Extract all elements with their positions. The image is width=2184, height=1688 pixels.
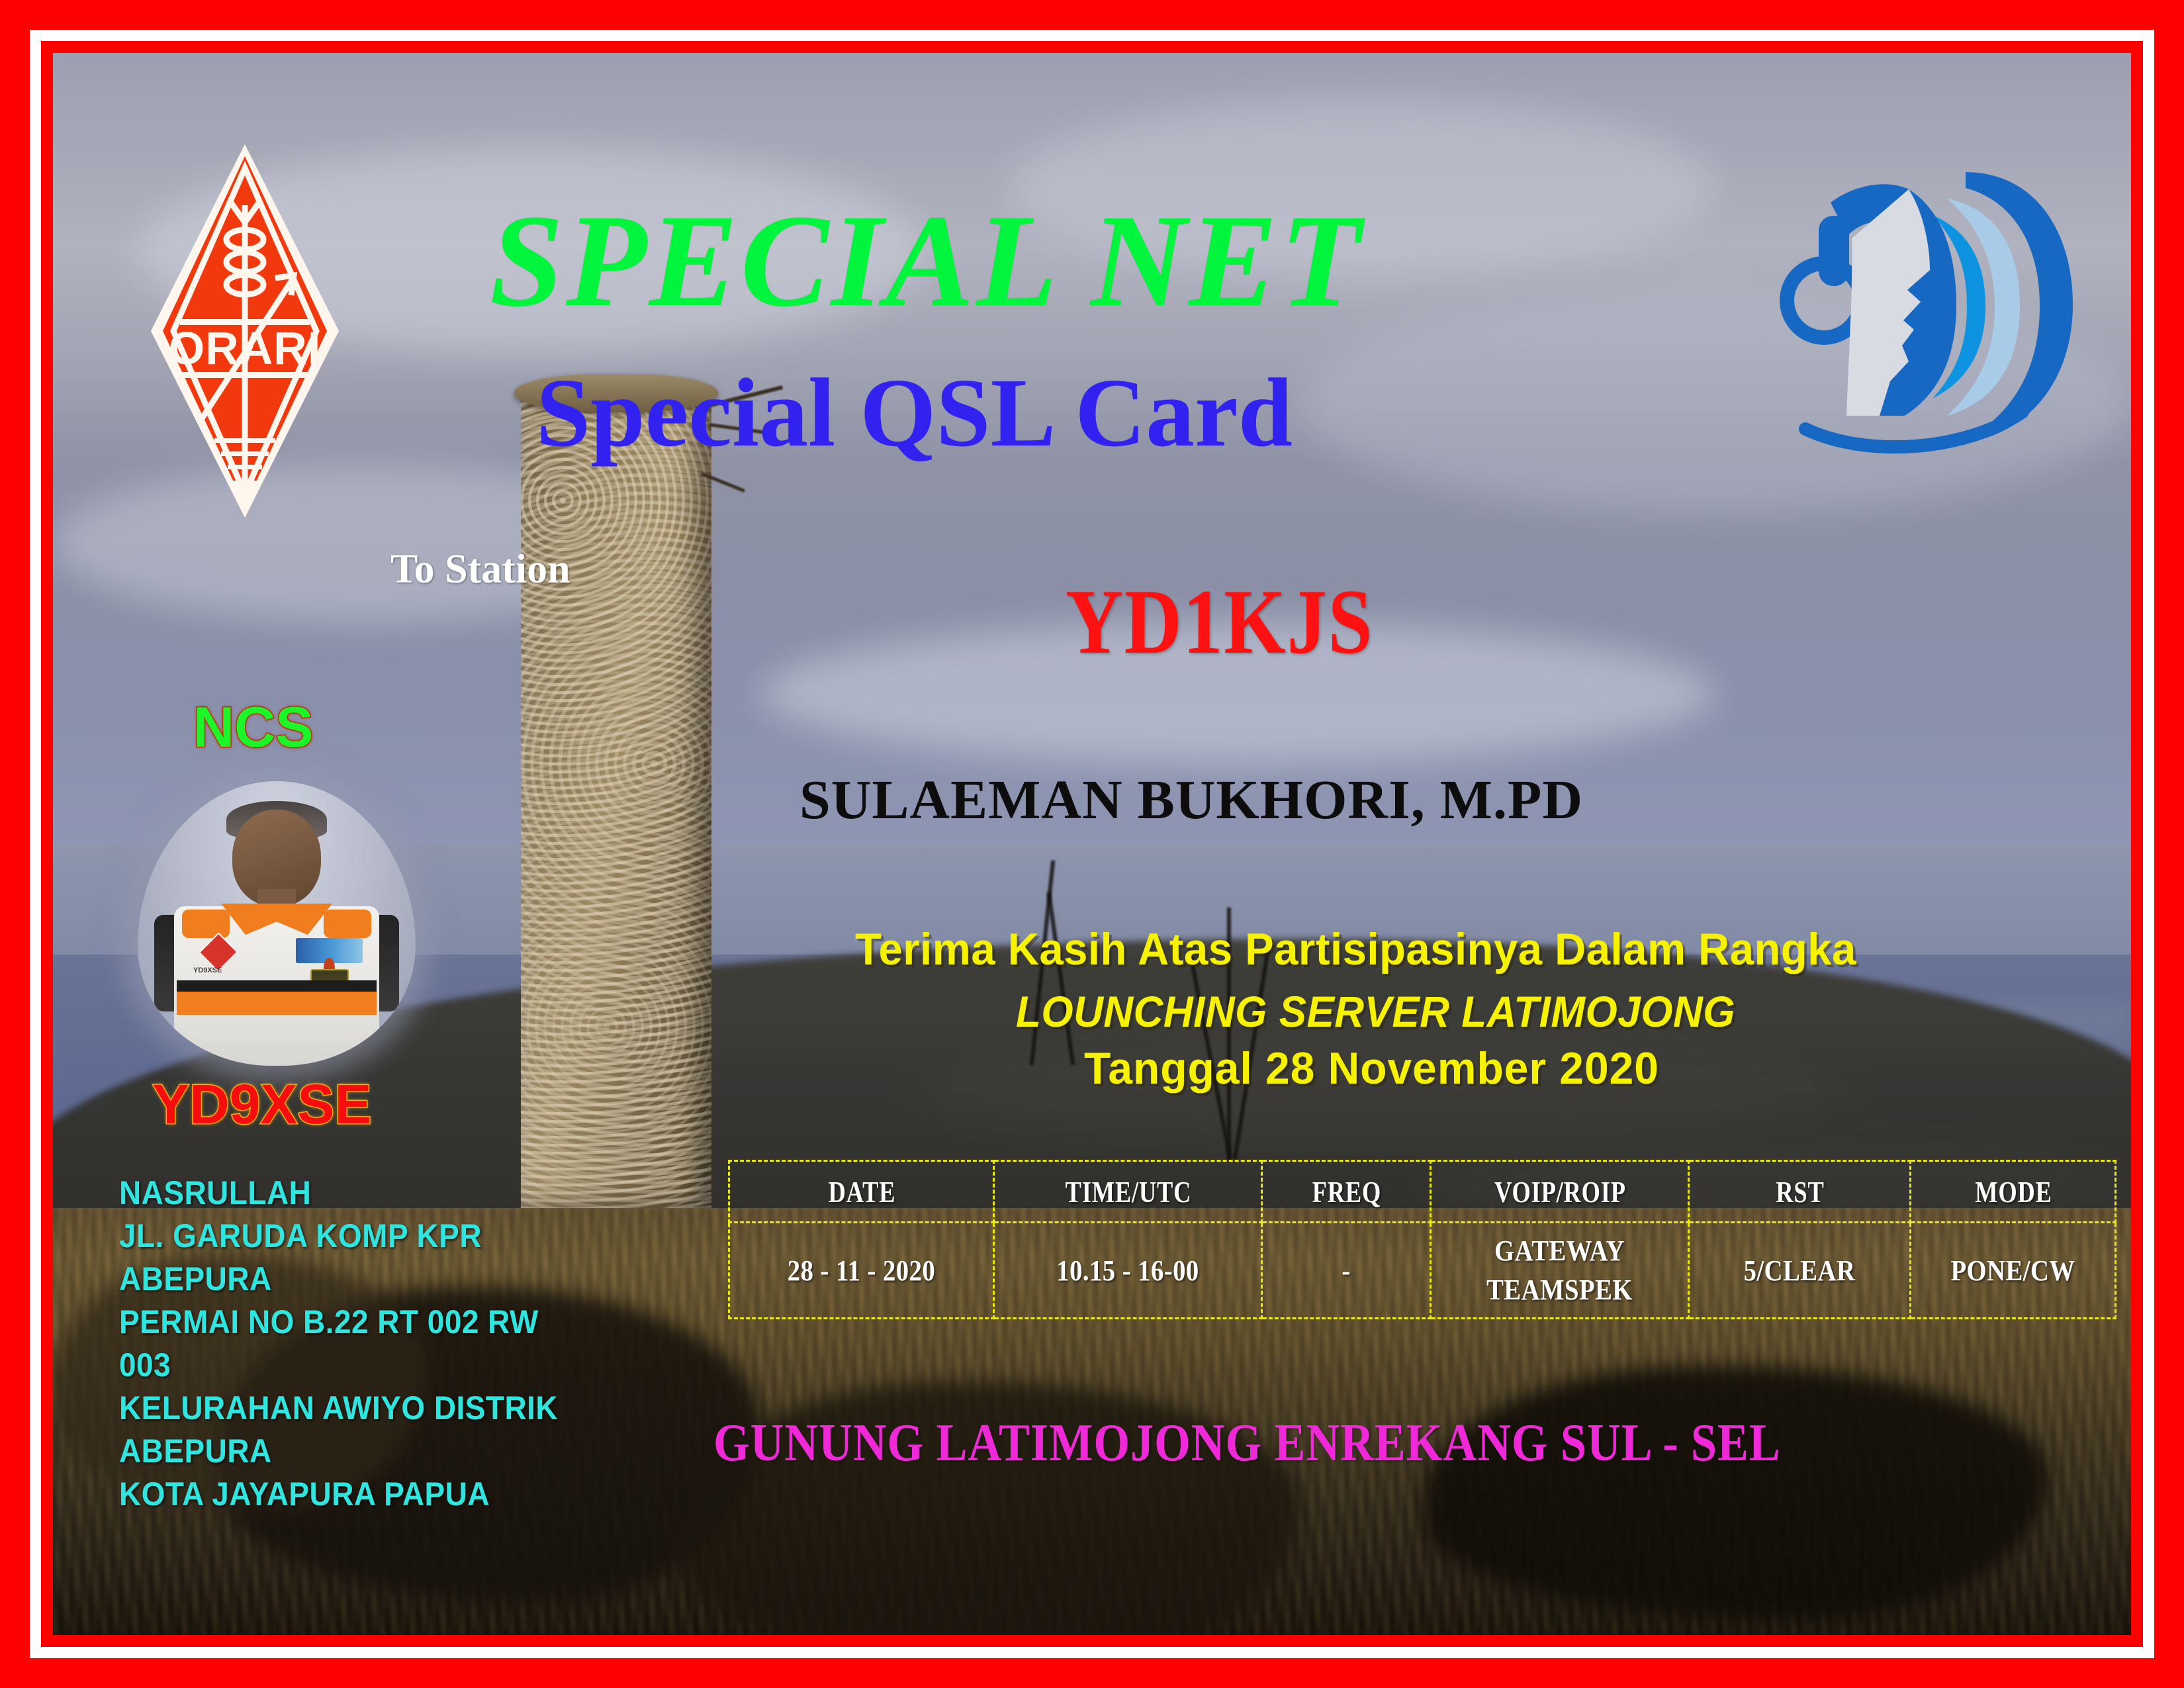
cell-time: 10.15 - 16-00 (994, 1223, 1262, 1319)
event-location-line: GUNUNG LATIMOJONG ENREKANG SUL - SEL (713, 1413, 1781, 1474)
ncs-callsign: YD9XSE (152, 1072, 372, 1137)
address-line: ABEPURA (119, 1430, 582, 1473)
orari-logo: ORARI (146, 139, 344, 523)
svg-text:ORARI: ORARI (169, 322, 322, 374)
table-header-row: DATE TIME/UTC FREQ VOIP/ROIP RST MODE (729, 1161, 2116, 1223)
col-header-date: DATE (743, 1161, 981, 1223)
event-date-line: Tanggal 28 November 2020 (1084, 1043, 1659, 1094)
recipient-name: SULAEMAN BUKHORI, M.PD (799, 768, 1583, 832)
col-header-time: TIME/UTC (1007, 1161, 1249, 1223)
cell-freq: - (1262, 1223, 1431, 1319)
stone-pillar-monument (521, 385, 712, 1208)
address-line: PERMAI NO B.22 RT 002 RW 003 (119, 1301, 582, 1387)
card-background-photo: ORARI SPECIAL NET (53, 53, 2131, 1635)
col-header-freq: FREQ (1270, 1161, 1422, 1223)
address-line: KELURAHAN AWIYO DISTRIK (119, 1387, 582, 1430)
address-line: ABEPURA (119, 1258, 582, 1301)
col-header-mode: MODE (1921, 1161, 2105, 1223)
thanks-line: Terima Kasih Atas Partisipasinya Dalam R… (855, 923, 1856, 975)
col-header-rst: RST (1700, 1161, 1899, 1223)
event-line: LOUNCHING SERVER LATIMOJONG (1016, 986, 1735, 1037)
ncs-operator-photo: YD9XSE (138, 781, 416, 1066)
page-subtitle: Special QSL Card (536, 364, 1293, 462)
col-header-voip: VOIP/ROIP (1443, 1161, 1676, 1223)
ncs-shirt-badge-text: YD9XSE (193, 966, 222, 974)
address-line: KOTA JAYAPURA PAPUA (119, 1473, 582, 1516)
cell-date: 28 - 11 - 2020 (729, 1223, 994, 1319)
cell-voip: GATEWAY TEAMSPEK (1431, 1223, 1689, 1319)
cell-mode: PONE/CW (1911, 1223, 2116, 1319)
qso-log-table: DATE TIME/UTC FREQ VOIP/ROIP RST MODE 28… (728, 1160, 2116, 1319)
cell-rst: 5/CLEAR (1689, 1223, 1911, 1319)
recipient-callsign: YD1KJS (1066, 576, 1373, 669)
address-line: JL. GARUDA KOMP KPR (119, 1215, 582, 1258)
return-address-block: NASRULLAH JL. GARUDA KOMP KPR ABEPURA PE… (119, 1172, 622, 1516)
page-title: SPECIAL NET (490, 195, 1363, 328)
address-line: NASRULLAH (119, 1172, 582, 1215)
ncs-label: NCS (193, 695, 314, 761)
headset-profile-logo (1767, 152, 2078, 457)
to-station-label: To Station (390, 546, 570, 593)
table-row: 28 - 11 - 2020 10.15 - 16-00 - GATEWAY T… (729, 1223, 2116, 1319)
qsl-card: ORARI SPECIAL NET (0, 0, 2184, 1688)
